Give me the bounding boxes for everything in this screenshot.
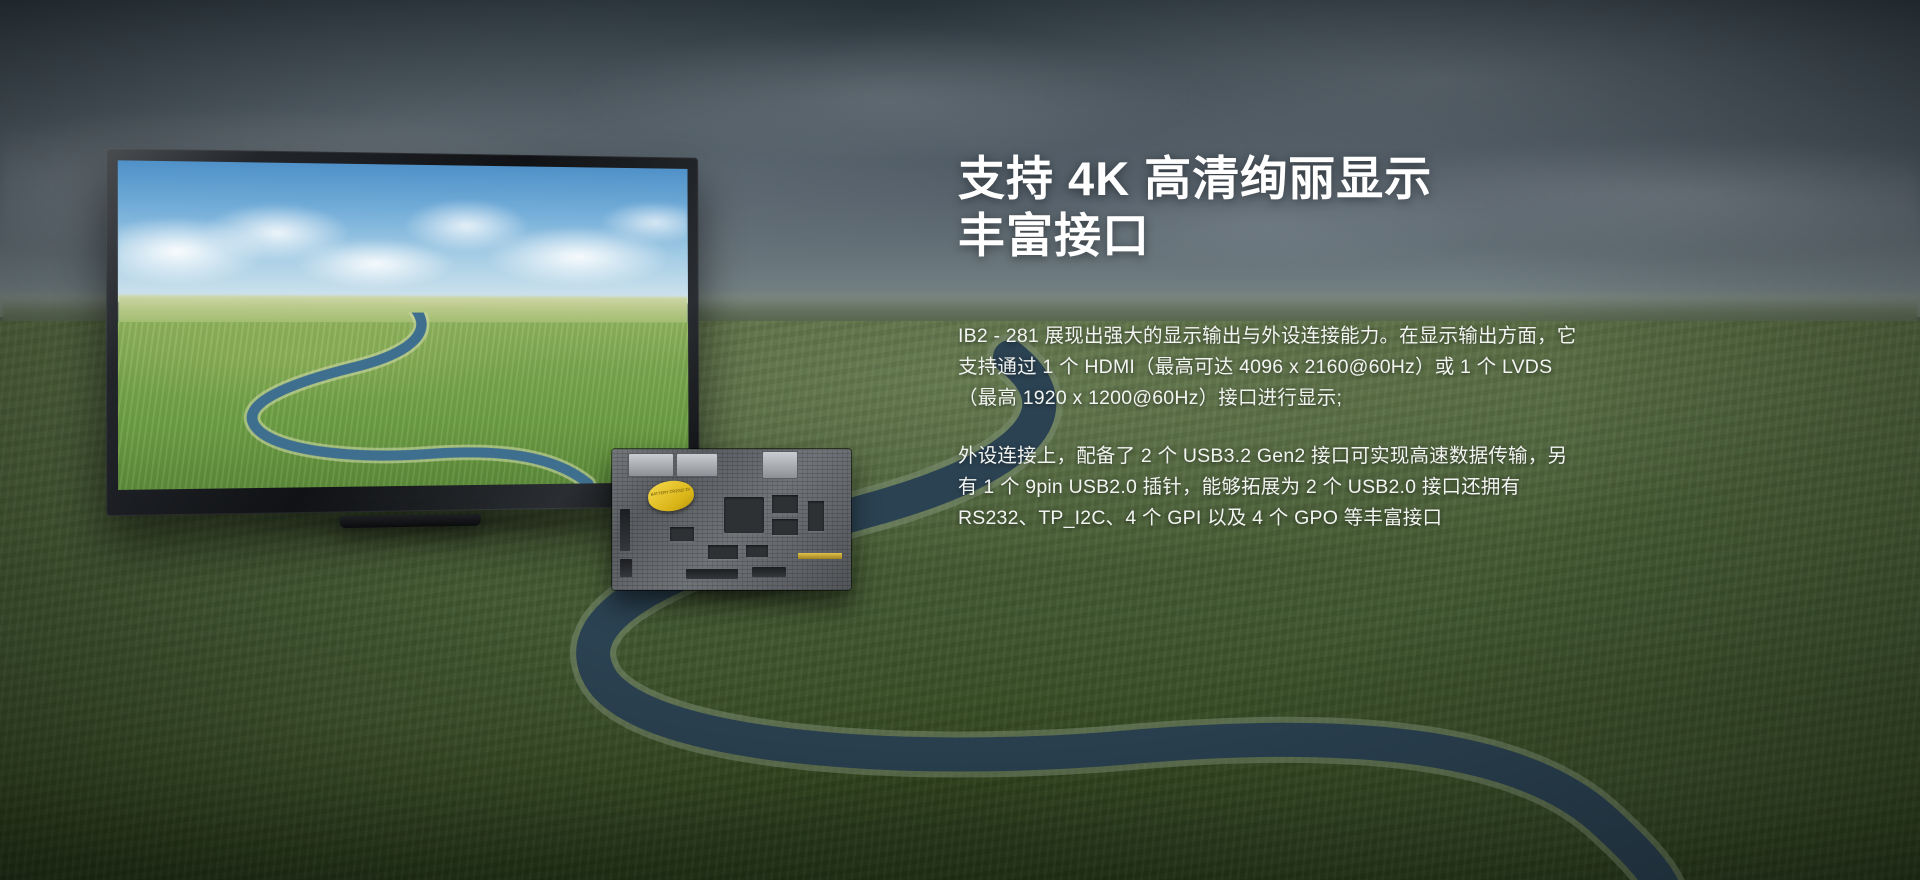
usb-port-stack-icon (628, 453, 674, 477)
battery-label: BATTERY CR2032 3V (647, 486, 693, 497)
controller-chip (746, 545, 768, 557)
regulator-chip (808, 501, 824, 531)
tv-bezel (106, 148, 700, 516)
coin-cell-battery: BATTERY CR2032 3V (646, 478, 696, 514)
screen-river (118, 312, 689, 490)
flash-chip (670, 527, 694, 541)
marketing-banner: BATTERY CR2032 3V 支持 4K 高清绚丽显示 丰富接口 IB2 … (0, 0, 1920, 880)
gpio-header (620, 559, 632, 577)
memory-chip (772, 519, 798, 535)
gold-finger-contacts (798, 553, 842, 559)
paragraph-peripheral-io: 外设连接上，配备了 2 个 USB3.2 Gen2 接口可实现高速数据传输，另有… (958, 441, 1578, 534)
ethernet-port-icon (762, 451, 798, 479)
headline-line-1: 支持 4K 高清绚丽显示 (958, 150, 1578, 207)
tv-display (106, 148, 700, 516)
page-title: 支持 4K 高清绚丽显示 丰富接口 (958, 150, 1578, 264)
usb-pin-header (686, 569, 738, 579)
copy-column: 支持 4K 高清绚丽显示 丰富接口 IB2 - 281 展现出强大的显示输出与外… (958, 150, 1578, 534)
soc-chip (724, 497, 764, 533)
body-copy: IB2 - 281 展现出强大的显示输出与外设连接能力。在显示输出方面，它支持通… (958, 321, 1578, 534)
screen-sky (118, 160, 688, 303)
circuit-board: BATTERY CR2032 3V (612, 449, 851, 590)
headline-line-2: 丰富接口 (958, 207, 1578, 264)
hdmi-port-icon (676, 453, 718, 477)
tv-stand (340, 514, 481, 528)
controller-chip (708, 545, 738, 559)
paragraph-display-output: IB2 - 281 展现出强大的显示输出与外设连接能力。在显示输出方面，它支持通… (958, 321, 1578, 414)
tv-screen (118, 160, 689, 490)
serial-header (752, 567, 786, 577)
memory-chip (772, 495, 798, 513)
lvds-header (620, 509, 630, 551)
